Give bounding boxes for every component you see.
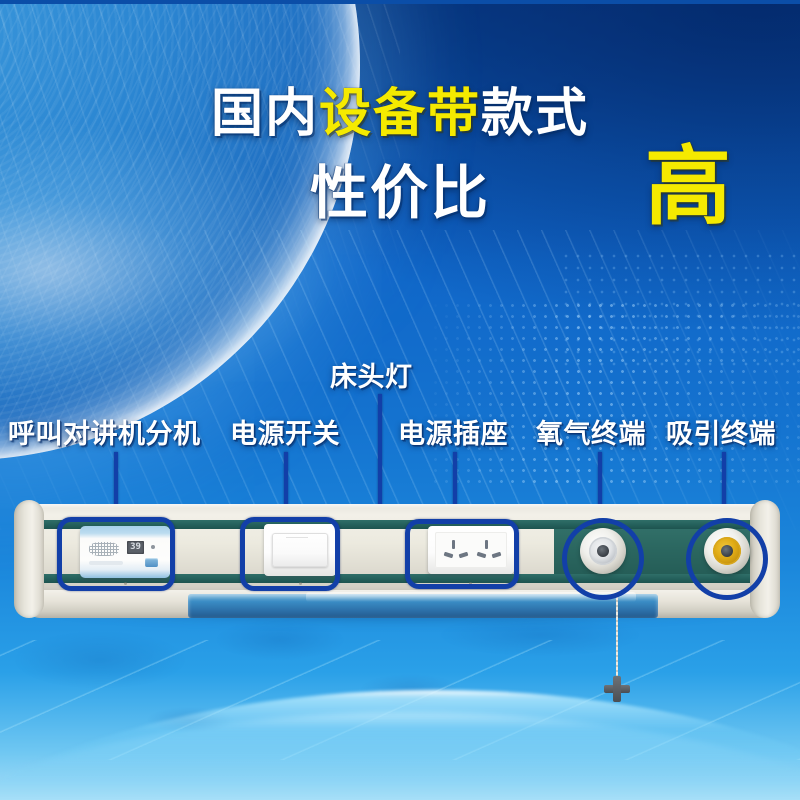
headline-line2-text: 性价比 [310,161,490,226]
highlight-power-switch [240,517,340,591]
callout-label-power-socket: 电源插座 [398,412,508,451]
promo-banner: 国内设备带款式 性价比 高 呼叫对讲机分机 电源开关 床头灯 电源插座 氧气终端… [0,0,800,800]
headline-block: 国内设备带款式 性价比 高 [0,0,800,260]
headline-line1-part2: 设备带 [319,85,481,143]
halftone-dots [430,300,800,490]
headline-line1-part1: 国内 [211,85,319,143]
panel-end-cap-left [14,500,44,618]
highlight-power-socket [405,519,519,589]
callout-label-intercom: 呼叫对讲机分机 [8,412,201,451]
highlight-suction-terminal [686,518,768,600]
headline-line-1: 国内设备带款式 [0,88,800,140]
callout-label-power-switch: 电源开关 [230,412,340,451]
pull-cord[interactable] [616,592,618,676]
headline-emphasis-char: 高 [645,144,731,230]
headline-line1-part3: 款式 [481,85,589,143]
pull-cord-handle-bar-v [613,676,621,702]
callout-label-suction-terminal: 吸引终端 [666,412,776,451]
callout-label-oxygen-terminal: 氧气终端 [536,412,646,451]
callout-label-bed-lamp: 床头灯 [330,355,413,394]
pull-cord-handle-icon[interactable] [604,676,630,702]
highlight-intercom [57,517,175,591]
highlight-oxygen-terminal [562,518,644,600]
